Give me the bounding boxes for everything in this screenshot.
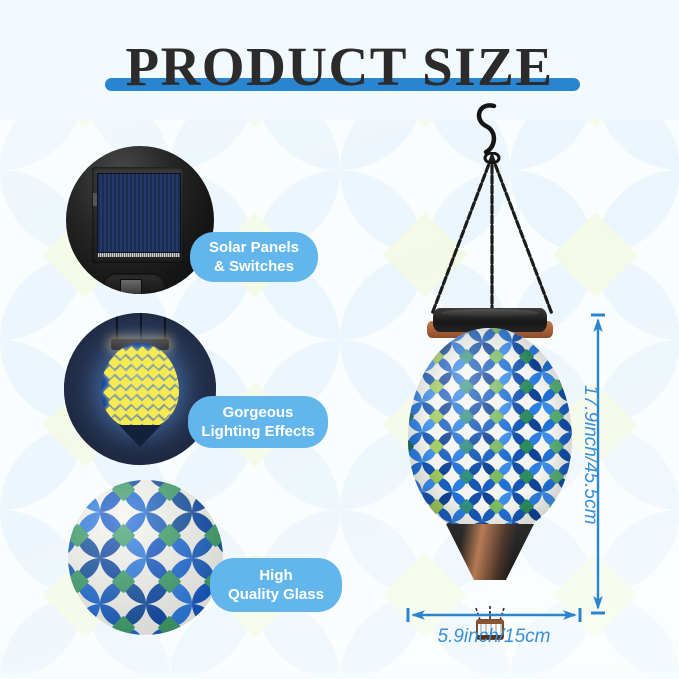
feature-label-line2: Lighting Effects [201, 423, 314, 440]
page-title: PRODUCT SIZE [0, 36, 679, 98]
feature-label-line2: & Switches [214, 258, 294, 275]
product-size-infographic: PRODUCT SIZE Solar Panels & Switches Gor… [0, 0, 679, 679]
height-dimension-label: 17.9inch/45.5cm [579, 385, 601, 545]
lantern-cone-highlight [446, 524, 534, 580]
feature-label-line1: Solar Panels [209, 239, 299, 256]
solar-cell-grid [97, 173, 181, 253]
feature-image-quality-glass [68, 480, 223, 635]
globe-shading [408, 328, 572, 534]
cap-lid-top [441, 309, 539, 317]
width-dimension-label: 5.9inch/15cm [406, 626, 582, 648]
product-photo [392, 100, 592, 620]
power-switch [103, 273, 165, 294]
width-dimension-arrow [406, 606, 582, 624]
night-lantern-globe [101, 343, 179, 429]
mosaic-glass-globe [408, 328, 572, 534]
feature-label-line2: Quality Glass [228, 586, 324, 603]
feature-label-solar-panels: Solar Panels & Switches [190, 232, 318, 282]
feature-label-line1: High [259, 567, 292, 584]
night-lantern-cone [119, 425, 161, 447]
solar-panel-housing [66, 146, 214, 294]
background-bottom-fade [0, 669, 679, 679]
feature-image-lighting-effects [64, 313, 216, 465]
solar-panel-tab [93, 193, 97, 206]
feature-label-lighting-effects: Gorgeous Lighting Effects [188, 396, 328, 448]
feature-label-line1: Gorgeous [223, 404, 294, 421]
hanging-chains [392, 152, 592, 322]
feature-image-solar-panels [66, 146, 214, 294]
solar-panel-frame [92, 167, 184, 263]
header: PRODUCT SIZE [0, 18, 679, 98]
feature-label-quality-glass: High Quality Glass [210, 558, 342, 612]
mosaic-macro-shading [68, 480, 223, 635]
